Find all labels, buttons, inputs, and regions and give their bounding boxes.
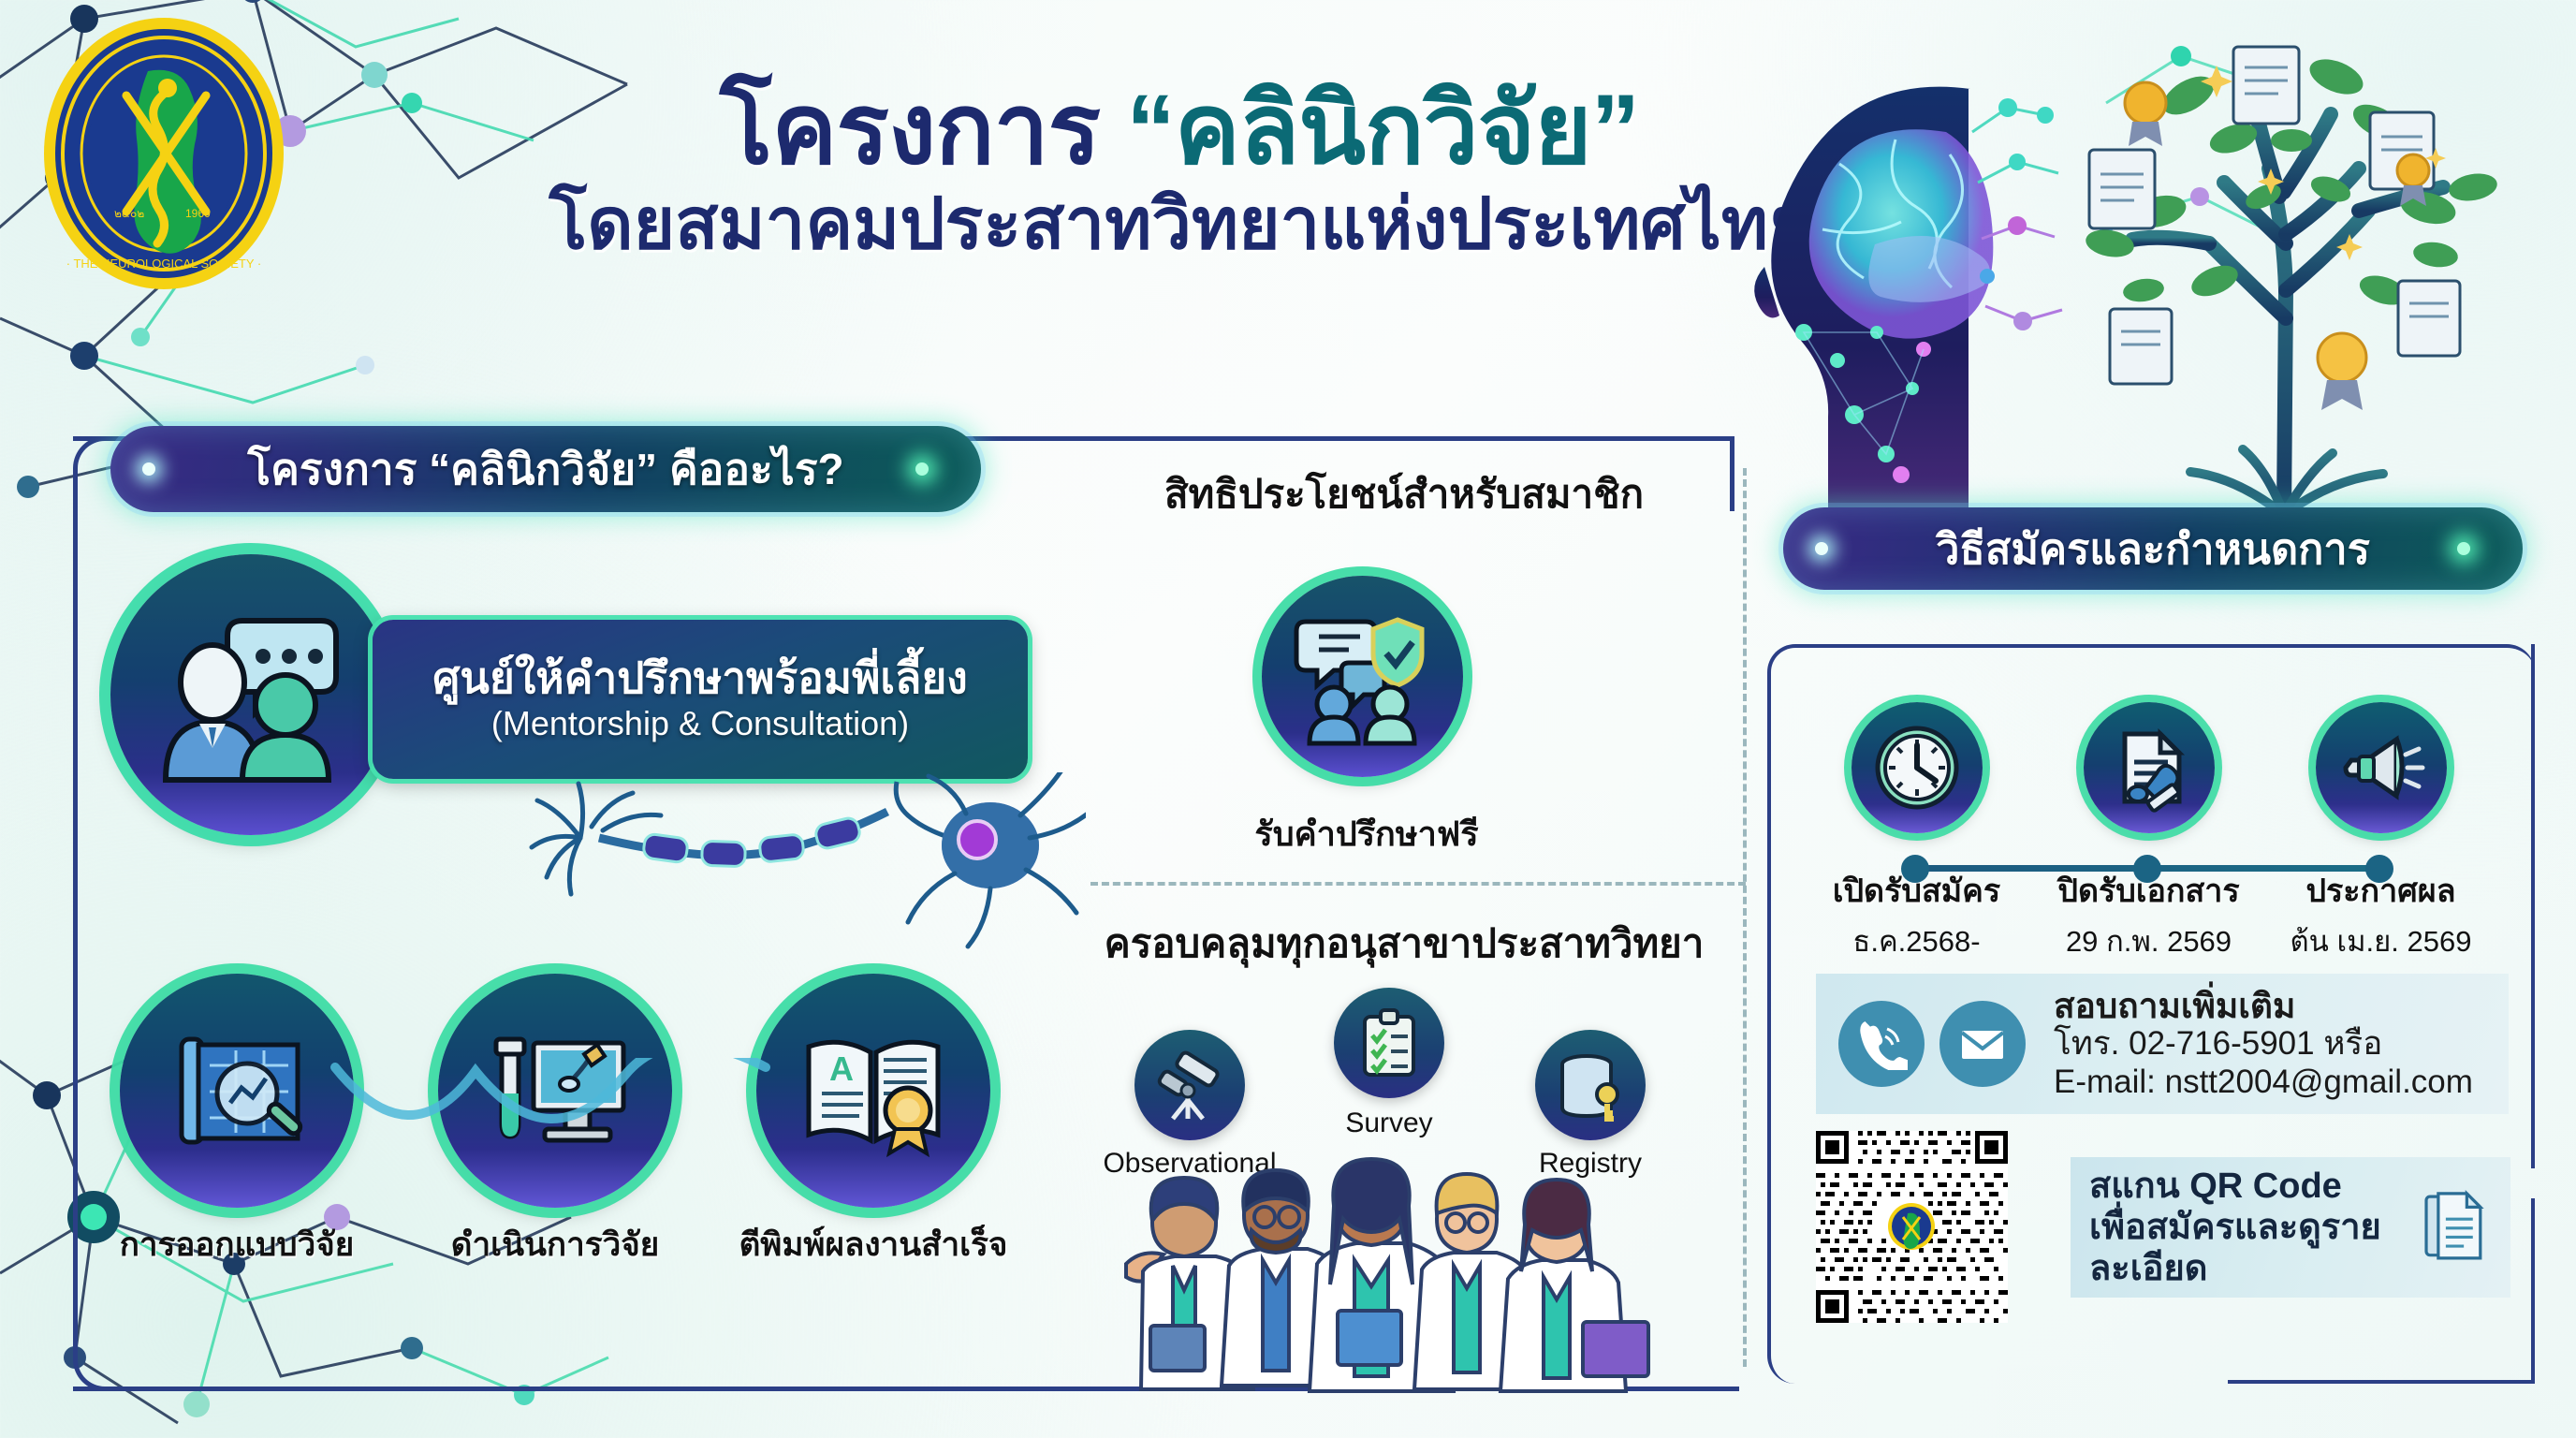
middle-right-divider (1743, 468, 1747, 1367)
coverage-item-survey: Survey (1334, 988, 1444, 1098)
contact-text: สอบถามเพิ่มเติม โทร. 02-716-5901 หรือ E-… (2054, 987, 2473, 1102)
coverage-heading: ครอบคลุมทุกอนุสาขาประสาทวิทยา (1076, 913, 1732, 975)
step-icon-circle: A (756, 974, 990, 1208)
step-publish-results: A ตีพิมพ์ผลงานสำเร็จ (756, 974, 990, 1208)
section-header-label: วิธีสมัครและกำหนดการ (1936, 515, 2370, 582)
right-frame-right-line (2531, 644, 2535, 1168)
svg-text:๒๕๐๒: ๒๕๐๒ (114, 207, 144, 220)
qr-center-logo (1887, 1202, 1936, 1251)
contact-heading: สอบถามเพิ่มเติม (2054, 987, 2473, 1025)
neuron-illustration (524, 772, 1086, 969)
society-logo: · THE NEUROLOGICAL SOCIETY · ๒๕๐๒ 1960 (37, 13, 290, 294)
document-stamp-icon (2102, 721, 2196, 814)
envelope-icon (1956, 1018, 2009, 1070)
mentorship-title-thai: ศูนย์ให้คำปรึกษาพร้อมพี่เลี้ยง (432, 655, 968, 702)
mentorship-title-english: (Mentorship & Consultation) (491, 704, 909, 743)
coverage-label: Survey (1268, 1108, 1510, 1139)
knowledge-tree-illustration (2050, 9, 2555, 515)
poster-canvas: · THE NEUROLOGICAL SOCIETY · ๒๕๐๒ 1960 โ… (0, 0, 2576, 1438)
timeline-icon-circle (1851, 702, 1983, 833)
timeline-icon-circle (2316, 702, 2447, 833)
middle-divider (1090, 882, 1746, 886)
coverage-icon-circle (1334, 988, 1444, 1098)
contact-phone: โทร. 02-716-5901 หรือ (2054, 1025, 2473, 1064)
free-consultation-label: รับคำปรึกษาฟรี (1198, 807, 1535, 860)
clipboard-check-icon (1352, 1005, 1427, 1080)
open-book-award-icon: A (794, 1011, 953, 1170)
mail-icon-circle[interactable] (1939, 1001, 2026, 1087)
neuron-spark-icon (2457, 542, 2470, 555)
mentorship-icon-circle (110, 554, 391, 835)
step-connector-wave (328, 1058, 777, 1170)
timeline-icon-circle (2084, 702, 2215, 833)
page-subtitle: โดยสมาคมประสาทวิทยาแห่งประเทศไทย (524, 185, 1835, 264)
right-frame-lower-right-line (2531, 1198, 2535, 1384)
mentorship-banner: ศูนย์ให้คำปรึกษาพร้อมพี่เลี้ยง (Mentorsh… (373, 620, 1028, 779)
timeline-results-announcement: ประกาศผล ต้น เม.ย. 2569 (2280, 702, 2481, 964)
svg-text:· THE NEUROLOGICAL SOCIETY ·: · THE NEUROLOGICAL SOCIETY · (66, 257, 262, 271)
megaphone-icon (2334, 721, 2428, 814)
qr-cta-line2: เพื่อสมัครและดูรายละเอียด (2089, 1207, 2419, 1289)
coverage-item-registry: Registry (1535, 1030, 1646, 1140)
step-label: การออกแบบวิจัย (80, 1219, 393, 1270)
document-icon (2419, 1176, 2494, 1279)
doctors-group-illustration (1109, 1152, 1718, 1395)
timeline-date: ต้น เม.ย. 2569 (2280, 917, 2481, 964)
qr-cta-text: สแกน QR Code เพื่อสมัครและดูรายละเอียด (2089, 1166, 2419, 1289)
step-research-design: การออกแบบวิจัย (120, 974, 354, 1208)
timeline-dot (2133, 855, 2161, 883)
contact-email: E-mail: nstt2004@gmail.com (2054, 1064, 2473, 1102)
blueprint-magnifier-icon (157, 1011, 316, 1170)
qr-call-to-action: สแกน QR Code เพื่อสมัครและดูรายละเอียด (2071, 1157, 2510, 1298)
section-header-label: โครงการ “คลินิกวิจัย” คืออะไร? (247, 435, 843, 504)
clock-icon (1870, 721, 1964, 814)
database-key-icon (1553, 1048, 1628, 1123)
title-prefix: โครงการ (720, 75, 1126, 184)
page-title: โครงการ “คลินิกวิจัย” (524, 80, 1835, 180)
step-icon-circle (120, 974, 354, 1208)
svg-text:A: A (829, 1049, 854, 1088)
step-label: ดำเนินการวิจัย (399, 1219, 711, 1270)
benefits-heading: สิทธิประโยชน์สำหรับสมาชิก (1076, 463, 1732, 525)
free-consultation-icon-circle (1262, 576, 1463, 777)
coverage-item-observational: Observational (1134, 1030, 1245, 1140)
timeline-date: 29 ก.พ. 2569 (2048, 917, 2249, 964)
neuron-spark-icon (1815, 542, 1828, 555)
title-quoted: “คลินิกวิจัย” (1126, 75, 1639, 184)
timeline-dot (1901, 855, 1929, 883)
poster-header: โครงการ “คลินิกวิจัย” โดยสมาคมประสาทวิทย… (524, 80, 1835, 264)
chat-shield-people-icon (1293, 607, 1433, 747)
section-header-what-is-project: โครงการ “คลินิกวิจัย” คืออะไร? (110, 426, 981, 512)
qr-cta-line1: สแกน QR Code (2089, 1166, 2419, 1207)
svg-text:1960: 1960 (185, 207, 211, 220)
phone-icon (1855, 1018, 1908, 1070)
contact-block: สอบถามเพิ่มเติม โทร. 02-716-5901 หรือ E-… (1816, 974, 2509, 1114)
section-header-how-to-apply: วิธีสมัครและกำหนดการ (1783, 507, 2523, 590)
timeline-dot (2365, 855, 2393, 883)
phone-icon-circle[interactable] (1838, 1001, 1925, 1087)
step-label: ตีพิมพ์ผลงานสำเร็จ (717, 1219, 1030, 1270)
people-chat-icon (153, 596, 349, 793)
coverage-icon-circle (1535, 1030, 1646, 1140)
neuron-spark-icon (915, 462, 929, 476)
right-frame-bottom-line (2228, 1380, 2535, 1384)
coverage-icon-circle (1134, 1030, 1245, 1140)
neuron-spark-icon (142, 462, 155, 476)
timeline-document-deadline: ปิดรับเอกสาร 29 ก.พ. 2569 (2048, 702, 2249, 964)
telescope-icon (1152, 1048, 1227, 1123)
